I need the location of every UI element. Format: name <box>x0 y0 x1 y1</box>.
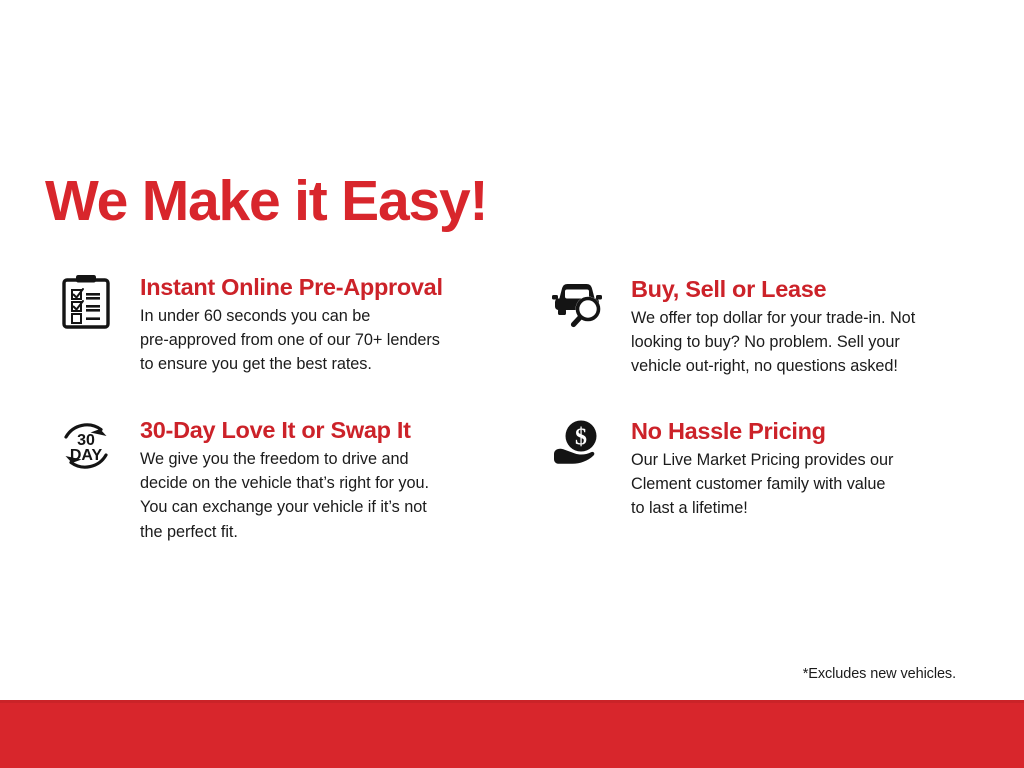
feature-text-line: Our Live Market Pricing provides our <box>631 448 893 472</box>
feature-buy-sell-or-lease: Buy, Sell or Lease We offer top dollar f… <box>548 276 915 379</box>
feature-text-line: looking to buy? No problem. Sell your <box>631 330 915 354</box>
clipboard-checklist-icon <box>55 274 117 336</box>
feature-body: No Hassle Pricing Our Live Market Pricin… <box>631 418 893 521</box>
feature-no-hassle-pricing: $ No Hassle Pricing Our Live Market Pric… <box>548 418 893 521</box>
thirty-day-cycle-icon: 30 DAY <box>55 417 117 479</box>
car-search-icon <box>548 276 610 338</box>
feature-text-line: We give you the freedom to drive and <box>140 447 429 471</box>
feature-text-line: to last a lifetime! <box>631 496 893 520</box>
feature-title: Instant Online Pre-Approval <box>140 274 443 301</box>
feature-text: We give you the freedom to drive and dec… <box>140 447 429 544</box>
feature-text-line: vehicle out-right, no questions asked! <box>631 354 915 378</box>
slide-root: We Make it Easy! <box>0 0 1024 768</box>
hand-holding-dollar-icon: $ <box>548 418 610 480</box>
feature-text-line: the perfect fit. <box>140 520 429 544</box>
feature-text-line: to ensure you get the best rates. <box>140 352 443 376</box>
feature-text-line: Clement customer family with value <box>631 472 893 496</box>
feature-text-line: decide on the vehicle that’s right for y… <box>140 471 429 495</box>
footnote-disclaimer: *Excludes new vehicles. <box>803 666 956 682</box>
feature-body: Instant Online Pre-Approval In under 60 … <box>140 274 443 377</box>
feature-body: 30-Day Love It or Swap It We give you th… <box>140 417 429 544</box>
feature-title: No Hassle Pricing <box>631 418 893 445</box>
feature-text: Our Live Market Pricing provides our Cle… <box>631 448 893 521</box>
footer-bar <box>0 700 1024 768</box>
feature-text: In under 60 seconds you can be pre-appro… <box>140 304 443 377</box>
feature-text-line: pre-approved from one of our 70+ lenders <box>140 328 443 352</box>
page-title: We Make it Easy! <box>45 172 487 232</box>
thirty-day-icon-bottom-label: DAY <box>70 447 103 464</box>
feature-title: Buy, Sell or Lease <box>631 276 915 303</box>
feature-instant-online-pre-approval: Instant Online Pre-Approval In under 60 … <box>55 274 443 377</box>
feature-text-line: In under 60 seconds you can be <box>140 304 443 328</box>
feature-text-line: You can exchange your vehicle if it’s no… <box>140 495 429 519</box>
feature-body: Buy, Sell or Lease We offer top dollar f… <box>631 276 915 379</box>
feature-title: 30-Day Love It or Swap It <box>140 417 429 444</box>
footer-bar-top-edge <box>0 700 1024 703</box>
feature-text-line: We offer top dollar for your trade-in. N… <box>631 306 915 330</box>
feature-text: We offer top dollar for your trade-in. N… <box>631 306 915 379</box>
svg-text:$: $ <box>575 425 587 451</box>
feature-30-day-love-it-or-swap-it: 30 DAY 30-Day Love It or Swap It We give… <box>55 417 429 544</box>
